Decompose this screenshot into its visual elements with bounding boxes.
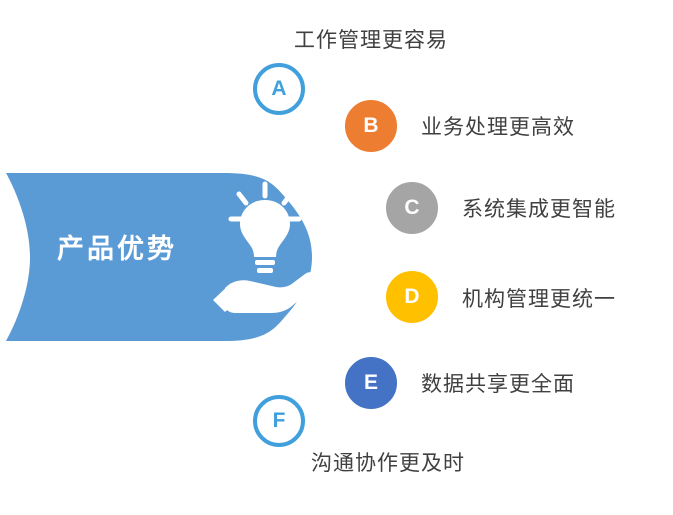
node-a-letter: A <box>271 78 286 99</box>
node-e[interactable]: E <box>345 357 397 409</box>
node-c-letter: C <box>404 197 419 218</box>
node-c[interactable]: C <box>386 182 438 234</box>
diagram-canvas: 产品优势 A 工作管理更容易 B 业务处理更高效 C 系统集成更智能 D 机构管… <box>0 0 673 515</box>
node-e-letter: E <box>364 372 378 393</box>
item-text-c: 系统集成更智能 <box>462 193 616 223</box>
node-f[interactable]: F <box>253 395 305 447</box>
node-d[interactable]: D <box>386 271 438 323</box>
item-text-f: 沟通协作更及时 <box>311 447 465 477</box>
item-text-d: 机构管理更统一 <box>462 283 616 313</box>
node-b[interactable]: B <box>345 100 397 152</box>
item-text-e: 数据共享更全面 <box>421 368 575 398</box>
item-text-a: 工作管理更容易 <box>294 24 448 54</box>
node-a[interactable]: A <box>253 63 305 115</box>
node-b-letter: B <box>363 115 378 136</box>
node-f-letter: F <box>273 410 286 431</box>
node-d-letter: D <box>404 286 419 307</box>
banner-title: 产品优势 <box>22 232 212 266</box>
item-text-b: 业务处理更高效 <box>421 111 575 141</box>
